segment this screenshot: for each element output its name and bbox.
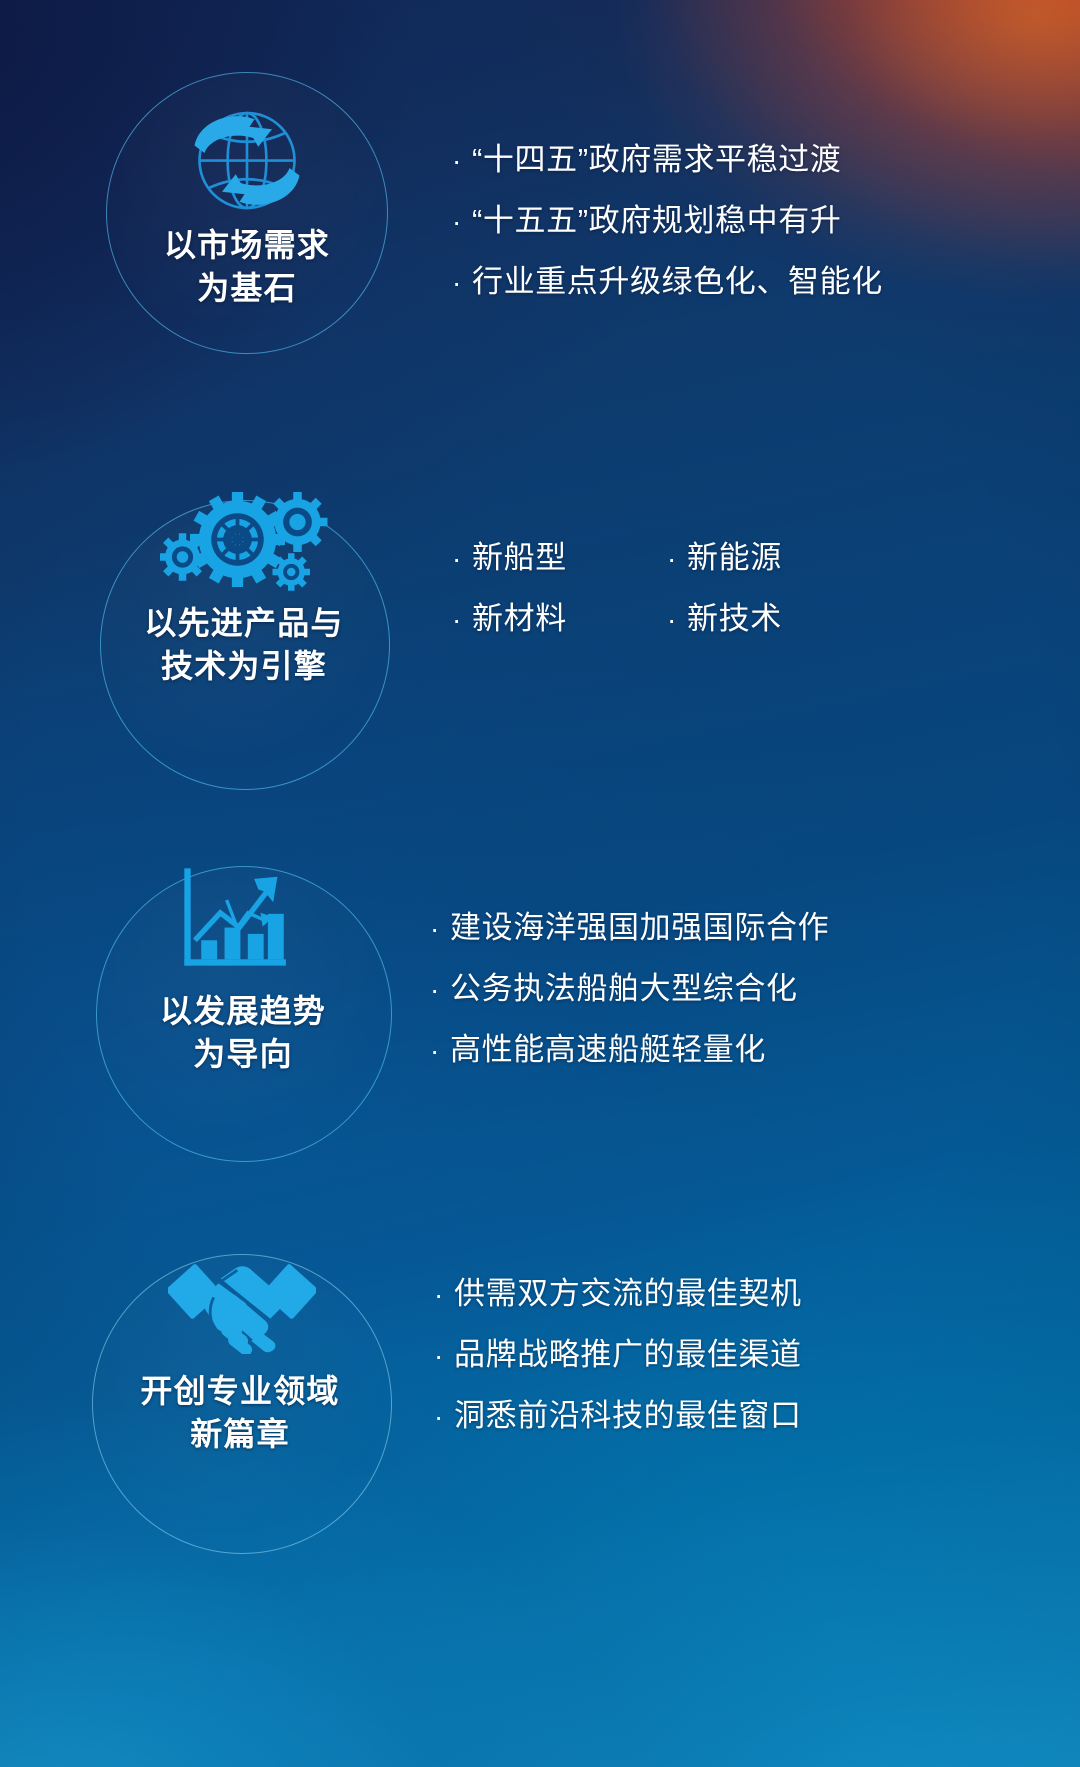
bullet-marker-icon: · bbox=[430, 976, 450, 1004]
growth-chart-icon bbox=[178, 862, 288, 972]
card-title-3: 以发展趋势 为导向 bbox=[0, 990, 486, 1076]
list-item-label: “十四五”政府需求平稳过渡 bbox=[472, 144, 841, 175]
bullet-list-1: · “十四五”政府需求平稳过渡 · “十五五”政府规划稳中有升 · 行业重点升级… bbox=[452, 144, 883, 297]
list-item-label: 新技术 bbox=[687, 603, 782, 634]
card-title-line: 以市场需求 bbox=[0, 224, 494, 267]
bullet-marker-icon: · bbox=[430, 915, 450, 943]
list-item: · 新船型 bbox=[452, 542, 667, 573]
bullet-marker-icon: · bbox=[434, 1403, 454, 1431]
bullet-marker-icon: · bbox=[667, 545, 687, 573]
globe-exchange-icon bbox=[172, 98, 322, 223]
card-title-1: 以市场需求 为基石 bbox=[0, 224, 494, 310]
bullet-marker-icon: · bbox=[452, 606, 472, 634]
card-title-line: 新篇章 bbox=[0, 1413, 480, 1456]
list-item-label: 新材料 bbox=[472, 603, 567, 634]
list-item: · 供需双方交流的最佳契机 bbox=[434, 1278, 802, 1309]
list-item-label: 洞悉前沿科技的最佳窗口 bbox=[454, 1400, 802, 1431]
card-title-line: 技术为引擎 bbox=[0, 645, 488, 688]
card-title-line: 为基石 bbox=[0, 267, 494, 310]
bullet-list-4: · 供需双方交流的最佳契机 · 品牌战略推广的最佳渠道 · 洞悉前沿科技的最佳窗… bbox=[434, 1278, 802, 1431]
list-item: · “十四五”政府需求平稳过渡 bbox=[452, 144, 883, 175]
list-item-label: 高性能高速船艇轻量化 bbox=[450, 1034, 766, 1065]
card-title-line: 以先进产品与 bbox=[0, 602, 488, 645]
list-item: · 建设海洋强国加强国际合作 bbox=[430, 912, 829, 943]
list-item-label: 行业重点升级绿色化、智能化 bbox=[472, 266, 883, 297]
list-item: · “十五五”政府规划稳中有升 bbox=[452, 205, 883, 236]
list-item: · 行业重点升级绿色化、智能化 bbox=[452, 266, 883, 297]
bullet-list-2: · 新船型 · 新材料 · 新能源 · 新技术 bbox=[452, 542, 782, 634]
card-title-4: 开创专业领域 新篇章 bbox=[0, 1370, 480, 1456]
handshake-icon bbox=[168, 1236, 316, 1354]
list-item-label: “十五五”政府规划稳中有升 bbox=[472, 205, 841, 236]
list-item-label: 新能源 bbox=[687, 542, 782, 573]
list-item: · 新技术 bbox=[667, 603, 782, 634]
bullet-marker-icon: · bbox=[434, 1342, 454, 1370]
list-item-label: 新船型 bbox=[472, 542, 567, 573]
card-title-line: 为导向 bbox=[0, 1033, 486, 1076]
bullet-column-right: · 新能源 · 新技术 bbox=[667, 542, 782, 634]
list-item-label: 品牌战略推广的最佳渠道 bbox=[454, 1339, 802, 1370]
bullet-marker-icon: · bbox=[430, 1037, 450, 1065]
bullet-list-3: · 建设海洋强国加强国际合作 · 公务执法船舶大型综合化 · 高性能高速船艇轻量… bbox=[430, 912, 829, 1065]
bullet-marker-icon: · bbox=[452, 147, 472, 175]
list-item-label: 建设海洋强国加强国际合作 bbox=[450, 912, 829, 943]
bullet-marker-icon: · bbox=[452, 545, 472, 573]
card-title-line: 开创专业领域 bbox=[0, 1370, 480, 1413]
card-title-line: 以发展趋势 bbox=[0, 990, 486, 1033]
list-item: · 洞悉前沿科技的最佳窗口 bbox=[434, 1400, 802, 1431]
bullet-marker-icon: · bbox=[667, 606, 687, 634]
list-item-label: 供需双方交流的最佳契机 bbox=[454, 1278, 802, 1309]
gears-icon bbox=[160, 472, 335, 602]
list-item-label: 公务执法船舶大型综合化 bbox=[450, 973, 798, 1004]
bullet-marker-icon: · bbox=[434, 1281, 454, 1309]
card-title-2: 以先进产品与 技术为引擎 bbox=[0, 602, 488, 688]
list-item: · 公务执法船舶大型综合化 bbox=[430, 973, 829, 1004]
list-item: · 新材料 bbox=[452, 603, 667, 634]
poster-root: 以市场需求 为基石 · “十四五”政府需求平稳过渡 · “十五五”政府规划稳中有… bbox=[0, 0, 1080, 1767]
list-item: · 新能源 bbox=[667, 542, 782, 573]
list-item: · 高性能高速船艇轻量化 bbox=[430, 1034, 829, 1065]
list-item: · 品牌战略推广的最佳渠道 bbox=[434, 1339, 802, 1370]
bullet-column-left: · 新船型 · 新材料 bbox=[452, 542, 667, 634]
bullet-marker-icon: · bbox=[452, 269, 472, 297]
bullet-marker-icon: · bbox=[452, 208, 472, 236]
